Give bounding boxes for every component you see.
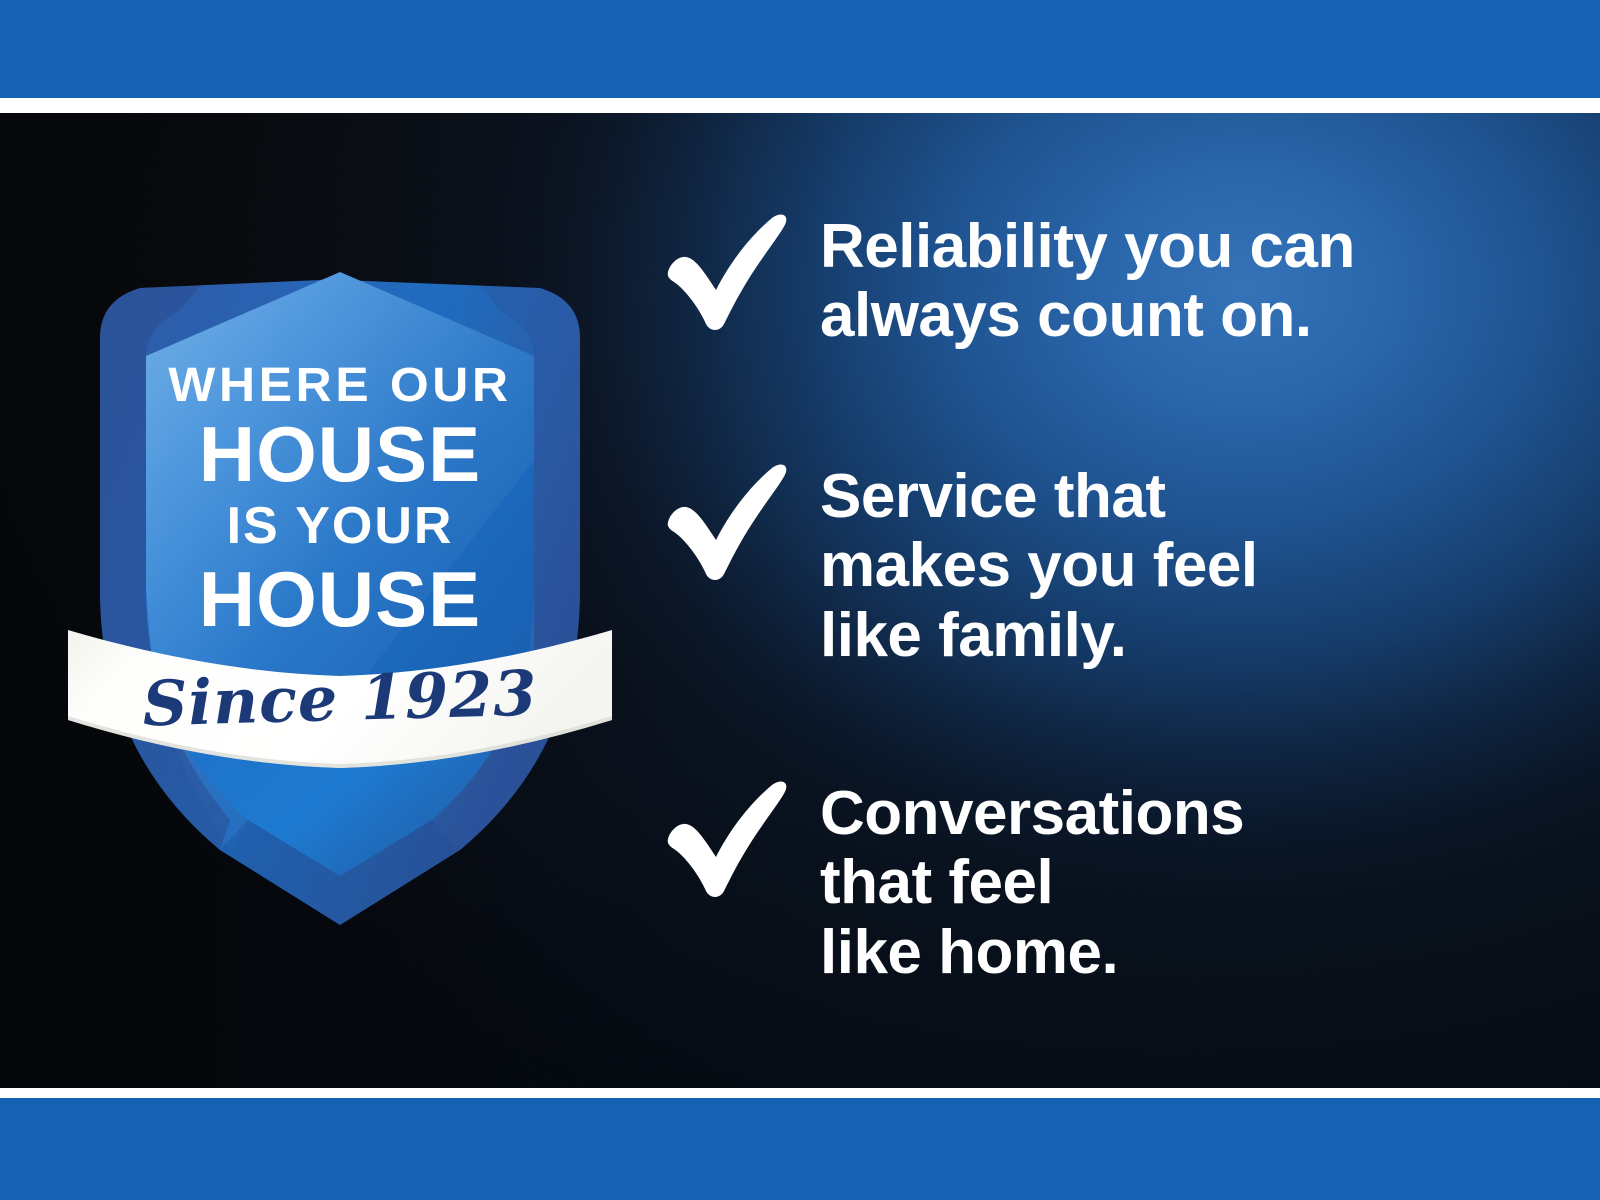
top-brand-bar — [0, 0, 1600, 98]
list-item: Service that makes you feel like family. — [660, 456, 1258, 670]
list-item-text: Conversations that feel like home. — [820, 773, 1244, 987]
list-item: Conversations that feel like home. — [660, 773, 1244, 987]
check-icon — [660, 208, 792, 336]
bottom-brand-bar — [0, 1098, 1600, 1200]
list-item-text: Reliability you can always count on. — [820, 206, 1355, 351]
promo-graphic: WHERE OUR HOUSE IS YOUR HOUSE Since 1923… — [0, 0, 1600, 1200]
shield-emblem: WHERE OUR HOUSE IS YOUR HOUSE Since 1923 — [60, 160, 620, 940]
check-icon — [660, 775, 792, 903]
list-item-text: Service that makes you feel like family. — [820, 456, 1258, 670]
benefits-list: Reliability you can always count on. Ser… — [660, 113, 1540, 1088]
shield-icon — [60, 160, 620, 940]
list-item: Reliability you can always count on. — [660, 206, 1355, 351]
check-icon — [660, 458, 792, 586]
